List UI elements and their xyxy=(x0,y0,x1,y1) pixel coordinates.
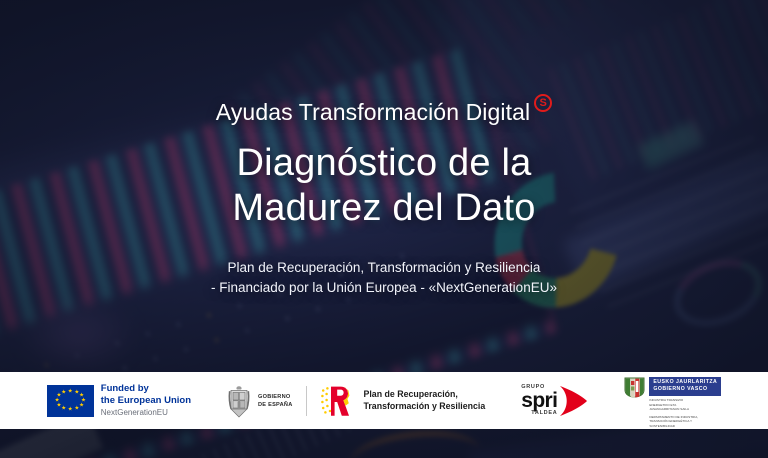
basque-coat-of-arms-icon xyxy=(624,377,645,398)
gobierno-line-2: DE ESPAÑA xyxy=(258,401,292,409)
funding-statement: Plan de Recuperación, Transformación y R… xyxy=(211,258,557,299)
eusko-band-line-2: GOBIERNO VASCO xyxy=(653,386,717,394)
funding-line-1: Plan de Recuperación, Transformación y R… xyxy=(211,258,557,278)
funding-line-2: - Financiado por la Unión Europea - «Nex… xyxy=(211,278,557,298)
eusko-department-es: DEPARTAMENTO DE INDUSTRIA, TRANSICIÓN EN… xyxy=(649,415,721,429)
page-title-line-1: Diagnóstico de la xyxy=(232,141,535,185)
spain-coat-of-arms-icon xyxy=(227,385,251,418)
eusko-dept-es-line-3: SOSTENIBILIDAD xyxy=(649,424,721,429)
service-mark-icon: S xyxy=(534,94,552,112)
eyebrow-row: Ayudas Transformación Digital S xyxy=(216,100,552,125)
logo-divider xyxy=(306,386,307,416)
eu-line-3: NextGenerationEU xyxy=(101,407,191,419)
eusko-dept-eu-line-3: JASANGARRITASUN SAILA xyxy=(649,407,721,412)
hero-section: Ayudas Transformación Digital S Diagnóst… xyxy=(0,0,768,372)
logo-grupo-spri: GRUPO spri TALDEA xyxy=(521,385,588,417)
prtr-line-1: Plan de Recuperación, xyxy=(364,389,486,401)
logo-eusko-jaurlaritza: EUSKO JAURLARITZA GOBIERNO VASCO INDUSTR… xyxy=(624,374,721,429)
page-title-line-2: Madurez del Dato xyxy=(232,186,535,230)
eu-line-2: the European Union xyxy=(101,395,191,407)
prtr-mark-icon xyxy=(320,385,352,418)
logo-european-union: ★ ★ ★ ★ ★ ★ ★ ★ ★ ★ ★ ★ Funded by the Eu… xyxy=(47,383,191,420)
eu-logo-text: Funded by the European Union NextGenerat… xyxy=(101,383,191,420)
eu-line-1: Funded by xyxy=(101,383,191,395)
eu-flag-icon: ★ ★ ★ ★ ★ ★ ★ ★ ★ ★ ★ ★ xyxy=(47,385,94,417)
eusko-department-eu: INDUSTRIA TRANSIZIO ENERGETIKO ETA JASAN… xyxy=(649,398,721,412)
page-title: Diagnóstico de la Madurez del Dato xyxy=(232,141,535,230)
prtr-line-2: Transformación y Resiliencia xyxy=(364,401,486,413)
spri-arrow-icon xyxy=(558,385,588,417)
logo-gobierno-espana-prtr: GOBIERNO DE ESPAÑA Plan de Recuperación,… xyxy=(227,385,485,418)
gobierno-espana-text: GOBIERNO DE ESPAÑA xyxy=(258,393,292,409)
sponsor-logo-bar: ★ ★ ★ ★ ★ ★ ★ ★ ★ ★ ★ ★ Funded by the Eu… xyxy=(0,372,768,429)
spri-bottom-label: TALDEA xyxy=(531,411,557,417)
gobierno-line-1: GOBIERNO xyxy=(258,393,292,401)
eusko-text-block: EUSKO JAURLARITZA GOBIERNO VASCO INDUSTR… xyxy=(649,377,721,429)
program-eyebrow: Ayudas Transformación Digital xyxy=(216,100,530,125)
spri-main-label: spri xyxy=(521,392,557,411)
eusko-band-line-1: EUSKO JAURLARITZA xyxy=(653,379,717,387)
spri-wordmark: GRUPO spri TALDEA xyxy=(521,385,557,417)
eusko-blue-band: EUSKO JAURLARITZA GOBIERNO VASCO xyxy=(649,377,721,396)
prtr-text: Plan de Recuperación, Transformación y R… xyxy=(364,389,486,412)
